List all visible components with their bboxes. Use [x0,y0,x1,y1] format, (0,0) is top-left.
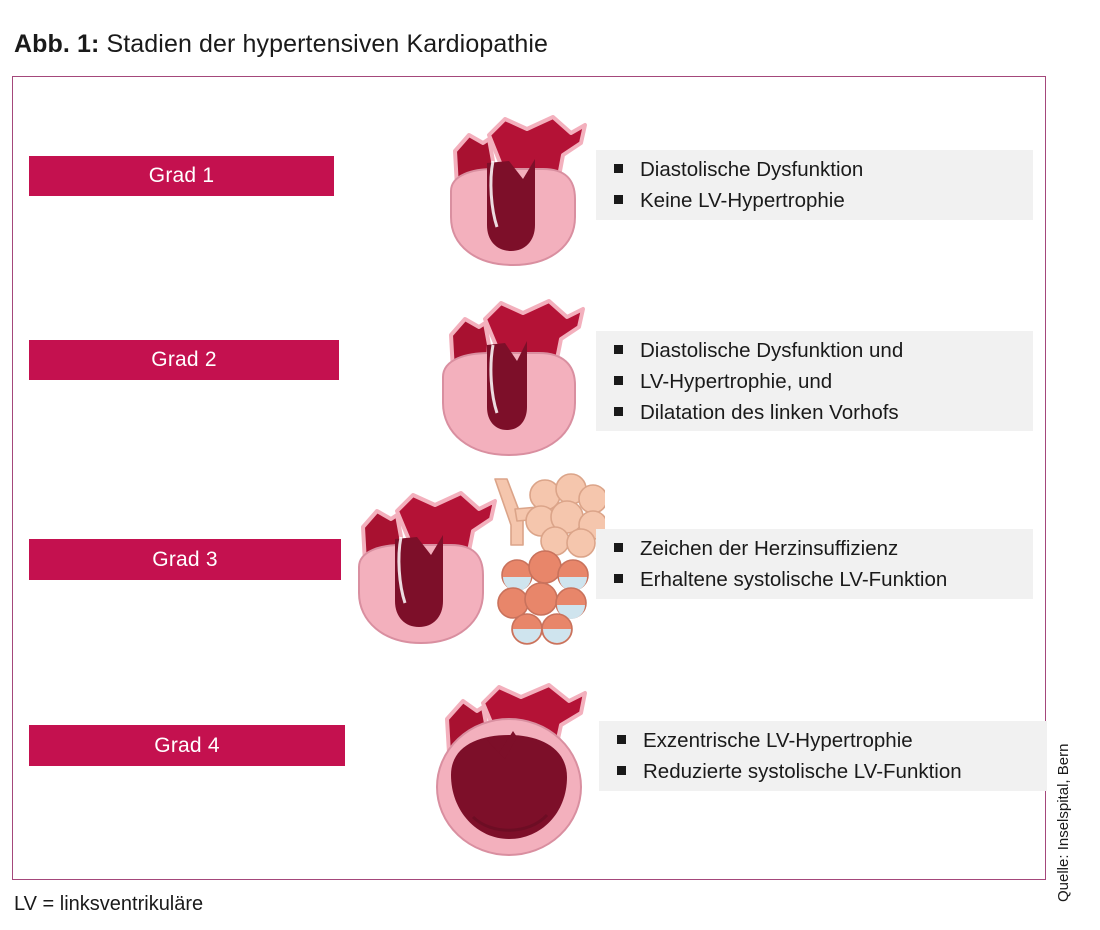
bullet-item: Exzentrische LV-Hypertrophie [599,725,1047,756]
figure-title: Abb. 1: Stadien der hypertensiven Kardio… [14,30,548,59]
figure-number: Abb. 1: [14,30,99,58]
grade-bar-label-4: Grad 4 [154,734,219,758]
heart-illustration-grade-2 [425,283,600,458]
figure-frame: Grad 1 Diastolische Dysfunktion Keine LV… [12,76,1046,880]
bullet-square-icon [614,407,623,416]
bullet-text: Keine LV-Hypertrophie [640,185,845,216]
heart-illustration-grade-3 [355,471,605,661]
bullet-item: LV-Hypertrophie, und [596,366,1033,397]
bullet-item: Dilatation des linken Vorhofs [596,397,1033,428]
bullet-box-grade-2: Diastolische Dysfunktion und LV-Hypertro… [596,331,1033,431]
grade-bar-3: Grad 3 [29,539,341,580]
bullet-square-icon [614,543,623,552]
bullet-text: Zeichen der Herzinsuffizienz [640,533,898,564]
heart-illustration-grade-1 [431,99,601,269]
bullet-box-grade-1: Diastolische Dysfunktion Keine LV-Hypert… [596,150,1033,220]
bullet-square-icon [617,766,626,775]
heart-shape [359,493,495,643]
bullet-item: Diastolische Dysfunktion [596,154,1033,185]
bullet-square-icon [617,735,626,744]
bullet-text: Erhaltene systolische LV-Funktion [640,564,947,595]
bullet-text: LV-Hypertrophie, und [640,366,832,397]
figure-title-text: Stadien der hypertensiven Kardiopathie [99,30,548,58]
bullet-square-icon [614,376,623,385]
bullet-text: Dilatation des linken Vorhofs [640,397,899,428]
bullet-item: Zeichen der Herzinsuffizienz [596,533,1033,564]
bullet-item: Erhaltene systolische LV-Funktion [596,564,1033,595]
heart-illustration-grade-4 [421,667,606,867]
bullet-item: Reduzierte systolische LV-Funktion [599,756,1047,787]
bullet-text: Reduzierte systolische LV-Funktion [643,756,962,787]
bullet-item: Diastolische Dysfunktion und [596,335,1033,366]
source-credit: Quelle: Inselspital, Bern [1055,672,1072,902]
alveoli-cluster-edema [498,551,588,644]
grade-bar-1: Grad 1 [29,156,334,196]
bullet-square-icon [614,195,623,204]
alveoli-cluster-normal [526,474,605,557]
bullet-box-grade-3: Zeichen der Herzinsuffizienz Erhaltene s… [596,529,1033,599]
grade-bar-label-1: Grad 1 [149,164,214,188]
bullet-text: Diastolische Dysfunktion [640,154,863,185]
bullet-text: Exzentrische LV-Hypertrophie [643,725,913,756]
grade-bar-4: Grad 4 [29,725,345,766]
bullet-square-icon [614,345,623,354]
bullet-box-grade-4: Exzentrische LV-Hypertrophie Reduzierte … [599,721,1047,791]
grade-bar-2: Grad 2 [29,340,339,380]
bullet-square-icon [614,164,623,173]
bullet-text: Diastolische Dysfunktion und [640,335,903,366]
grade-bar-label-2: Grad 2 [151,348,216,372]
grade-bar-label-3: Grad 3 [152,548,217,572]
bullet-square-icon [614,574,623,583]
bullet-item: Keine LV-Hypertrophie [596,185,1033,216]
figure-footnote: LV = linksventrikuläre [14,893,203,916]
